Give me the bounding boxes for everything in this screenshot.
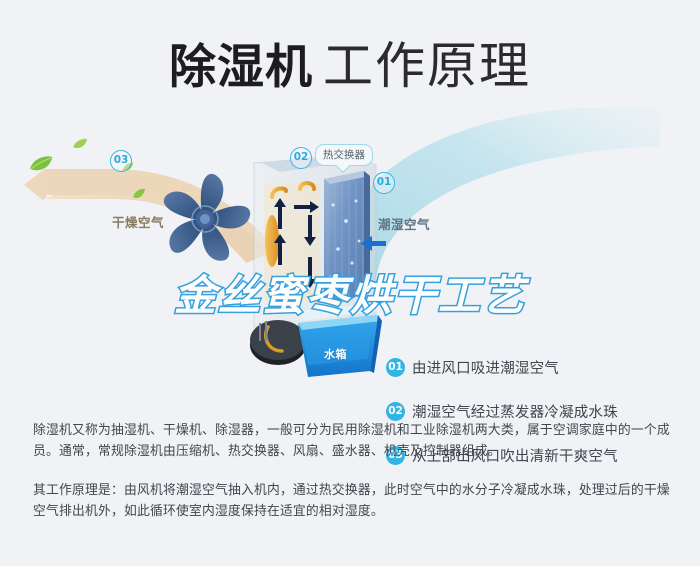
label-water-tank: 水箱 — [324, 346, 347, 362]
step-item: 01 由进风口吸进潮湿空气 — [386, 356, 686, 378]
page-root: 除湿机工作原理 — [0, 0, 700, 566]
body-copy: 除湿机又称为抽湿机、干燥机、除湿器，一般可分为民用除湿机和工业除湿机两大类，属于… — [33, 420, 673, 540]
leaf-icon — [28, 155, 54, 173]
page-title-part2: 工作原理 — [323, 37, 531, 95]
diagram-badge-01: 01 — [373, 172, 395, 194]
dehumidifier-diagram: 干燥空气 潮湿空气 水箱 03 02 01 热交换器 01 由进风口吸进潮湿空气… — [0, 110, 700, 400]
step-badge: 02 — [386, 402, 405, 421]
diagram-badge-02: 02 — [290, 147, 312, 169]
step-badge: 01 — [386, 358, 405, 377]
page-title-part1: 除湿机 — [169, 40, 313, 95]
label-humid-air: 潮湿空气 — [378, 214, 430, 233]
diagram-badge-03: 03 — [110, 150, 132, 172]
callout-heat-exchanger: 热交换器 — [315, 144, 373, 166]
label-dry-air: 干燥空气 — [112, 212, 164, 231]
step-text: 潮湿空气经过蒸发器冷凝成水珠 — [412, 401, 618, 422]
leaf-icon — [132, 188, 146, 200]
body-paragraph-1: 除湿机又称为抽湿机、干燥机、除湿器，一般可分为民用除湿机和工业除湿机两大类，属于… — [33, 420, 673, 462]
step-item: 02 潮湿空气经过蒸发器冷凝成水珠 — [386, 400, 686, 422]
dehumidifier-unit-icon — [238, 145, 388, 390]
step-text: 由进风口吸进潮湿空气 — [412, 357, 559, 378]
leaf-icon — [72, 138, 88, 150]
body-paragraph-2: 其工作原理是：由风机将潮湿空气抽入机内，通过热交换器，此时空气中的水分子冷凝成水… — [33, 480, 673, 522]
page-title: 除湿机工作原理 — [0, 26, 700, 98]
